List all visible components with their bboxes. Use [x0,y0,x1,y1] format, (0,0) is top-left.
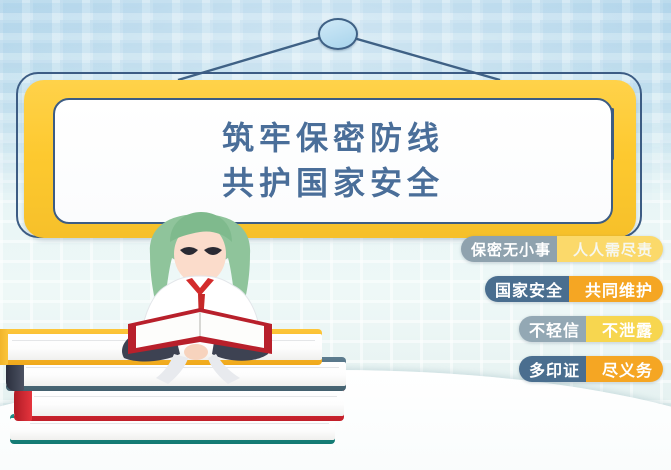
character-student-reading [108,212,293,397]
book-teal-lines [30,423,329,436]
book-teal [10,418,335,440]
slogan-badge-4[interactable]: 多印证 尽义务 [423,356,663,382]
slogan-badge-list: 保密无小事 人人需尽责 国家安全 共同维护 不轻信 不泄露 多印证 尽义务 [423,236,663,396]
slogan-badge-3-left: 不轻信 [519,316,596,342]
slogan-badge-3[interactable]: 不轻信 不泄露 [423,316,663,342]
slogan-badge-4-right: 尽义务 [586,356,663,382]
book-red-lines [34,396,338,412]
hands [184,344,208,360]
page-title-line-1: 筑牢保密防线 [222,116,444,161]
slogan-badge-2-right: 共同维护 [569,276,663,302]
slogan-badge-2-left: 国家安全 [485,276,579,302]
slogan-badge-1-right: 人人需尽责 [557,236,663,262]
book-yellow-spine [0,329,8,365]
page-title-line-2: 共护国家安全 [222,161,444,206]
slogan-badge-4-left: 多印证 [519,356,596,382]
slogan-badge-2[interactable]: 国家安全 共同维护 [423,276,663,302]
slogan-badge-1-left: 保密无小事 [461,236,567,262]
slogan-badge-3-right: 不泄露 [586,316,663,342]
ring-icon [318,18,358,50]
poster-canvas: 筑牢保密防线 共护国家安全 [0,0,671,470]
slogan-badge-1[interactable]: 保密无小事 人人需尽责 [423,236,663,262]
sign-title-panel: 筑牢保密防线 共护国家安全 [53,98,613,224]
